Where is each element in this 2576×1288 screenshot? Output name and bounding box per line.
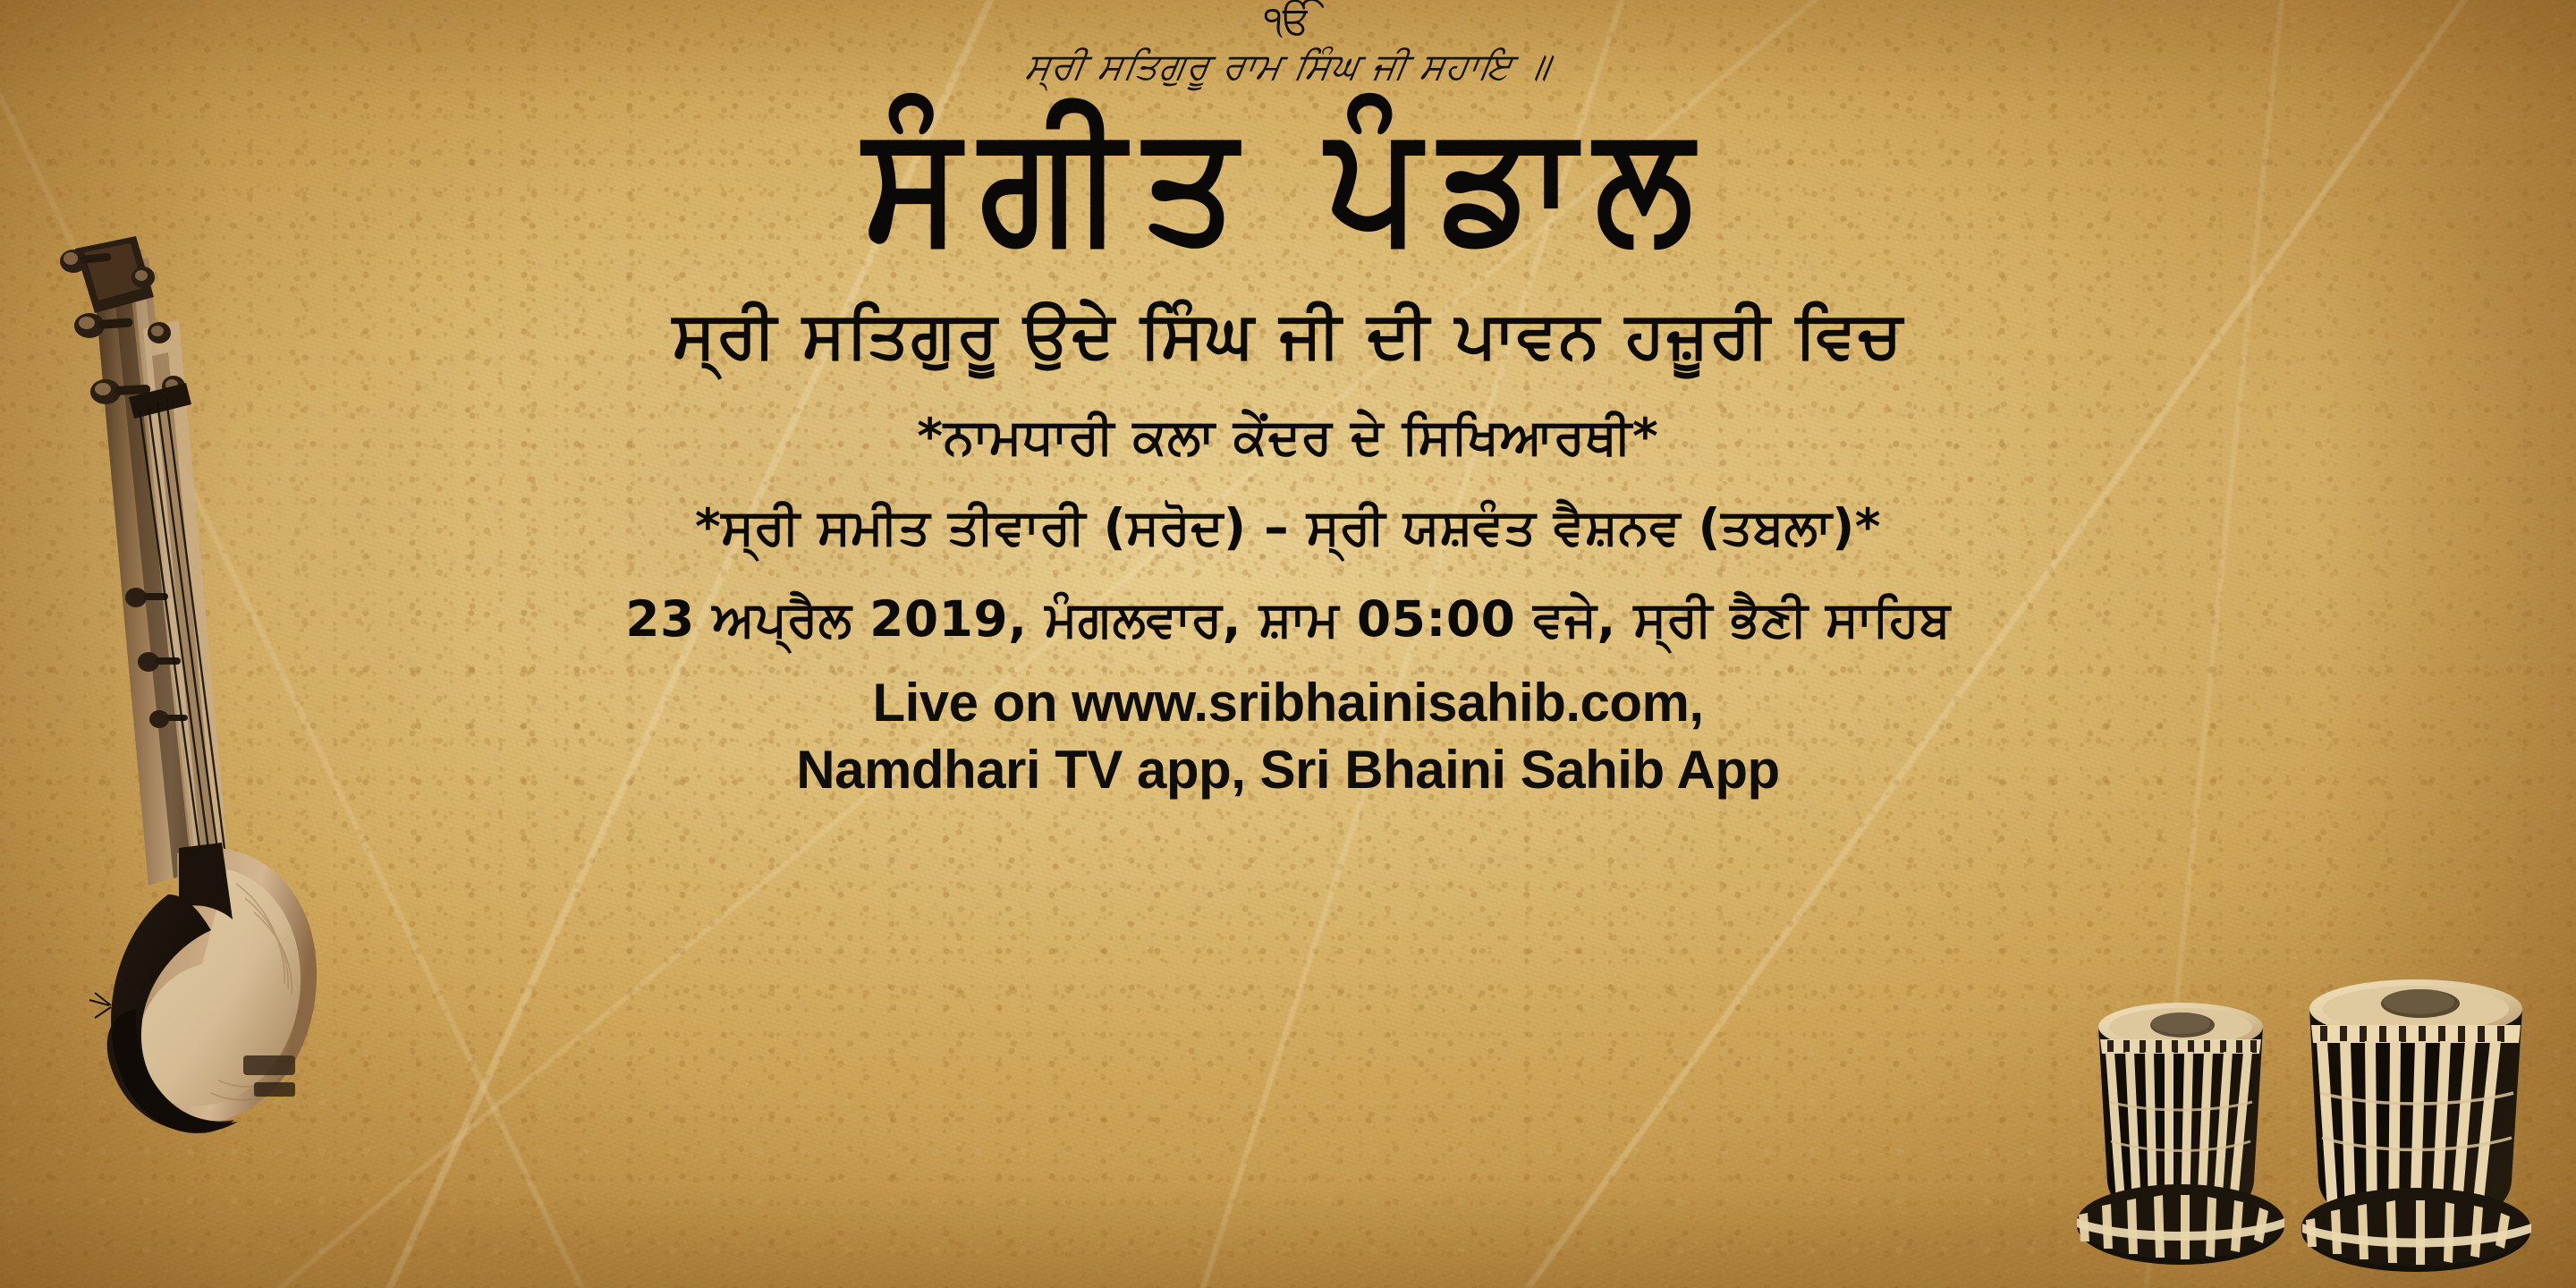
poster-canvas: ੴ ਸ੍ਰੀ ਸਤਿਗੁਰੂ ਰਾਮ ਸਿੰਘ ਜੀ ਸਹਾਇ ॥ ਸੰਗੀਤ … [0,0,2576,1288]
group-line: *ਨਾਮਧਾਰੀ ਕਲਾ ਕੇਂਦਰ ਦੇ ਸਿਖਿਆਰਥੀ* [917,408,1659,466]
ik-onkar-symbol: ੴ [1264,2,1312,41]
invocation-line: ਸ੍ਰੀ ਸਤਿਗੁਰੂ ਰਾਮ ਸਿੰਘ ਜੀ ਸਹਾਇ ॥ [1022,45,1554,89]
datetime-line: 23 ਅਪ੍ਰੈਲ 2019, ਮੰਗਲਵਾਰ, ਸ਼ਾਮ 05:00 ਵਜੇ,… [625,590,1951,648]
poster-text-stack: ੴ ਸ੍ਰੀ ਸਤਿਗੁਰੂ ਰਾਮ ਸਿੰਘ ਜੀ ਸਹਾਇ ॥ ਸੰਗੀਤ … [0,0,2576,1288]
artists-line: *ਸ੍ਰੀ ਸਮੀਤ ਤੀਵਾਰੀ (ਸਰੋਦ) – ਸ੍ਰੀ ਯਸ਼ਵੰਤ ਵ… [695,498,1881,556]
page-title: ਸੰਗੀਤ ਪੰਡਾਲ [863,101,1712,267]
host-line: ਸ੍ਰੀ ਸਤਿਗੁਰੂ ਉਦੇ ਸਿੰਘ ਜੀ ਦੀ ਪਾਵਨ ਹਜ਼ੂਰੀ … [673,297,1904,374]
live-stream-line-1: Live on www.sribhainisahib.com, [872,672,1703,733]
live-stream-line-2: Namdhari TV app, Sri Bhaini Sahib App [796,739,1779,801]
